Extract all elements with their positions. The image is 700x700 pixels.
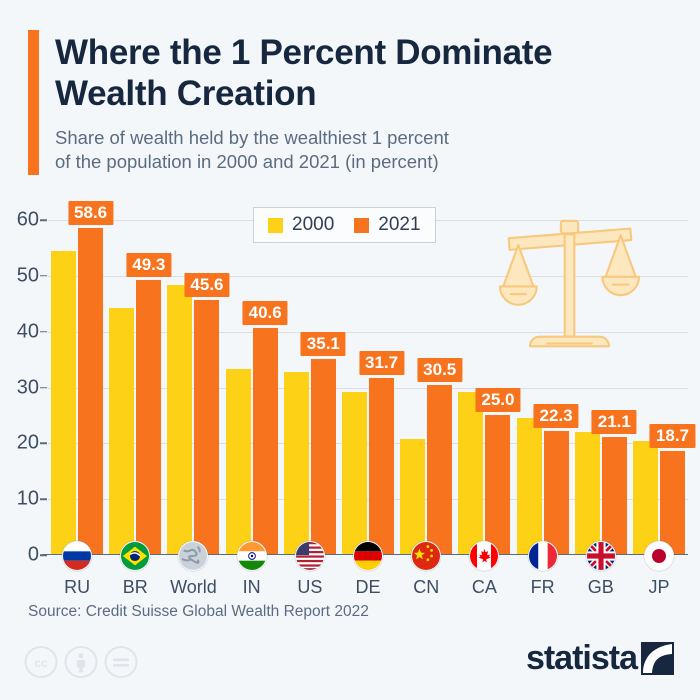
x-axis-label: BR bbox=[123, 577, 148, 598]
canada-flag-icon bbox=[469, 541, 499, 571]
header: Where the 1 Percent Dominate Wealth Crea… bbox=[0, 0, 700, 175]
bar-group: 45.6 bbox=[164, 220, 222, 555]
x-axis-label: World bbox=[170, 577, 217, 598]
bar-group: 30.5 bbox=[397, 220, 455, 555]
china-flag-icon bbox=[411, 541, 441, 571]
world-globe-icon bbox=[178, 541, 208, 571]
cc-icon[interactable]: cc bbox=[24, 645, 58, 679]
infographic-root: Where the 1 Percent Dominate Wealth Crea… bbox=[0, 0, 700, 700]
y-axis-tick-mark bbox=[40, 387, 47, 389]
subtitle-line-1: Share of wealth held by the wealthiest 1… bbox=[55, 127, 449, 148]
bar-2000[interactable] bbox=[342, 392, 367, 555]
bar-2021[interactable]: 22.3 bbox=[544, 431, 569, 556]
y-axis-tick-mark bbox=[40, 331, 47, 333]
y-axis-tick-mark bbox=[40, 219, 47, 221]
bar-2021[interactable]: 25.0 bbox=[485, 415, 510, 555]
x-axis-label: US bbox=[297, 577, 322, 598]
x-axis-label: DE bbox=[356, 577, 381, 598]
bar-group: 21.1 bbox=[572, 220, 630, 555]
page-subtitle: Share of wealth held by the wealthiest 1… bbox=[55, 126, 672, 175]
bar-group: 58.6 bbox=[48, 220, 106, 555]
x-axis-label: IN bbox=[243, 577, 261, 598]
bar-group: 40.6 bbox=[223, 220, 281, 555]
x-axis-label: GB bbox=[588, 577, 614, 598]
bar-2000[interactable] bbox=[226, 369, 251, 555]
india-flag-icon bbox=[237, 541, 267, 571]
russia-flag-icon bbox=[62, 541, 92, 571]
legend-label-2021: 2021 bbox=[378, 214, 420, 236]
header-text: Where the 1 Percent Dominate Wealth Crea… bbox=[55, 30, 672, 175]
bar-2000[interactable] bbox=[284, 372, 309, 555]
brazil-flag-icon bbox=[120, 541, 150, 571]
x-axis-category: FR bbox=[514, 555, 572, 598]
subtitle-line-2: of the population in 2000 and 2021 (in p… bbox=[55, 151, 439, 172]
legend-swatch-2021 bbox=[354, 218, 369, 233]
bar-2000[interactable] bbox=[633, 441, 658, 555]
attribution-person-icon[interactable] bbox=[64, 645, 98, 679]
y-axis-tick-label: 10 bbox=[17, 488, 39, 511]
bar-2000[interactable] bbox=[517, 418, 542, 555]
bar-group: 35.1 bbox=[281, 220, 339, 555]
x-axis-category: BR bbox=[106, 555, 164, 598]
y-axis-tick-label: 20 bbox=[17, 432, 39, 455]
bar-chart: 0102030405060 58.649.345.640.635.131.730… bbox=[0, 205, 700, 595]
bar-2021[interactable]: 21.1 bbox=[602, 437, 627, 555]
footer-divider bbox=[0, 634, 700, 635]
plot-area: 0102030405060 58.649.345.640.635.131.730… bbox=[48, 220, 688, 555]
bar-2000[interactable] bbox=[400, 439, 425, 555]
y-axis-tick-label: 0 bbox=[28, 544, 39, 567]
bar-2021[interactable]: 40.6 bbox=[253, 328, 278, 555]
france-flag-icon bbox=[528, 541, 558, 571]
bar-value-label: 18.7 bbox=[650, 424, 695, 448]
x-axis-category: CA bbox=[455, 555, 513, 598]
germany-flag-icon bbox=[353, 541, 383, 571]
bar-group: 25.0 bbox=[455, 220, 513, 555]
bar-2021[interactable]: 45.6 bbox=[194, 300, 219, 555]
bar-group: 31.7 bbox=[339, 220, 397, 555]
svg-text:cc: cc bbox=[34, 656, 48, 670]
x-axis-category: World bbox=[164, 555, 222, 598]
y-axis-tick-mark bbox=[40, 443, 47, 445]
y-axis-tick-label: 60 bbox=[17, 209, 39, 232]
japan-flag-icon bbox=[644, 541, 674, 571]
bar-2021[interactable]: 30.5 bbox=[427, 385, 452, 555]
bar-2000[interactable] bbox=[167, 285, 192, 555]
no-derivatives-equals-icon[interactable] bbox=[104, 645, 138, 679]
bar-2021[interactable]: 49.3 bbox=[136, 280, 161, 555]
y-axis-tick-label: 40 bbox=[17, 320, 39, 343]
x-axis-category: DE bbox=[339, 555, 397, 598]
x-axis-label: JP bbox=[648, 577, 669, 598]
x-axis-category: IN bbox=[223, 555, 281, 598]
x-axis-category: JP bbox=[630, 555, 688, 598]
bar-2000[interactable] bbox=[51, 251, 76, 555]
statista-wordmark: statista bbox=[526, 641, 637, 675]
license-icons: cc bbox=[24, 645, 138, 679]
accent-bar bbox=[28, 30, 39, 175]
statista-logo[interactable]: statista bbox=[526, 641, 674, 675]
chart-legend: 2000 2021 bbox=[253, 207, 436, 243]
bar-2021[interactable]: 58.6 bbox=[78, 228, 103, 555]
y-axis-tick-label: 30 bbox=[17, 376, 39, 399]
x-axis-label: FR bbox=[531, 577, 555, 598]
usa-flag-icon bbox=[295, 541, 325, 571]
x-axis-category: CN bbox=[397, 555, 455, 598]
y-axis-tick-mark bbox=[40, 498, 47, 500]
x-axis-category: GB bbox=[572, 555, 630, 598]
bar-2000[interactable] bbox=[458, 392, 483, 555]
uk-flag-icon bbox=[586, 541, 616, 571]
source-note: Source: Credit Suisse Global Wealth Repo… bbox=[28, 603, 369, 621]
x-axis-category: US bbox=[281, 555, 339, 598]
y-axis-tick-label: 50 bbox=[17, 264, 39, 287]
legend-swatch-2000 bbox=[268, 218, 283, 233]
bar-2000[interactable] bbox=[109, 308, 134, 555]
bar-group: 18.7 bbox=[630, 220, 688, 555]
y-axis-tick-mark bbox=[40, 275, 47, 277]
legend-item-2000[interactable]: 2000 bbox=[268, 214, 334, 236]
x-axis-category: RU bbox=[48, 555, 106, 598]
x-axis-label: RU bbox=[64, 577, 90, 598]
bar-2021[interactable]: 35.1 bbox=[311, 359, 336, 555]
page-title: Where the 1 Percent Dominate Wealth Crea… bbox=[55, 30, 672, 115]
x-axis-label: CN bbox=[413, 577, 439, 598]
x-axis-categories: RUBRWorldINUSDECNCAFRGBJP bbox=[48, 555, 688, 598]
x-axis-label: CA bbox=[472, 577, 497, 598]
legend-item-2021[interactable]: 2021 bbox=[354, 214, 420, 236]
bar-2021[interactable]: 31.7 bbox=[369, 378, 394, 555]
bar-group: 49.3 bbox=[106, 220, 164, 555]
legend-label-2000: 2000 bbox=[292, 214, 334, 236]
statista-mark-icon bbox=[641, 642, 674, 675]
bar-group: 22.3 bbox=[514, 220, 572, 555]
bar-2021[interactable]: 18.7 bbox=[660, 451, 685, 555]
bar-groups: 58.649.345.640.635.131.730.525.022.321.1… bbox=[48, 220, 688, 555]
bar-2000[interactable] bbox=[575, 432, 600, 555]
